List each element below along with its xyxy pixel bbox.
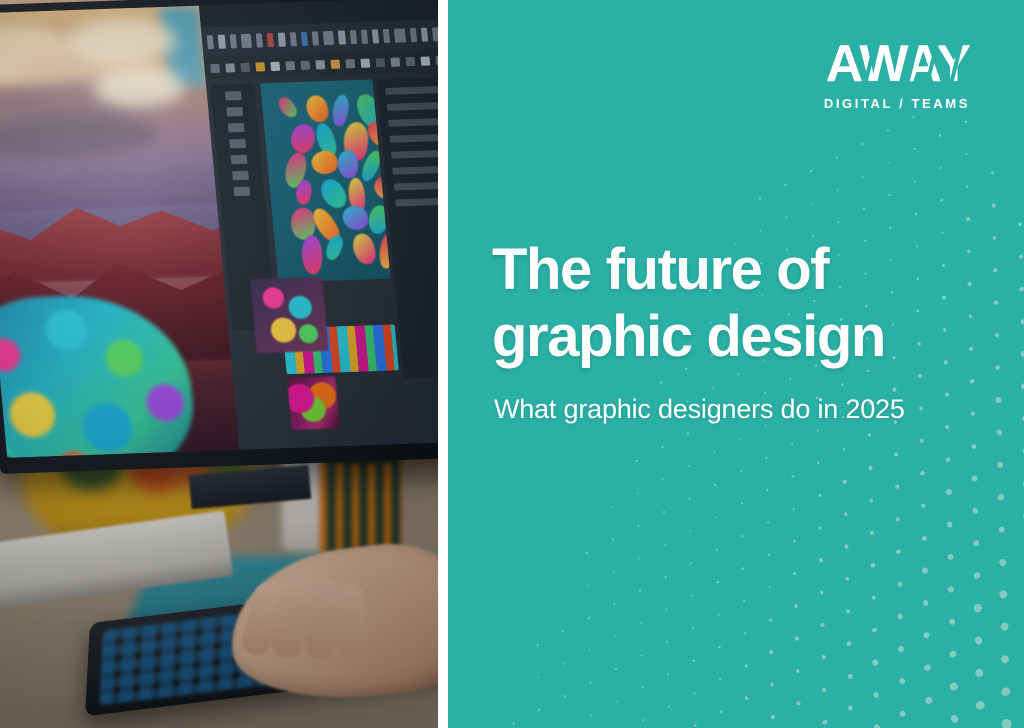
halftone-dot: [662, 479, 664, 481]
halftone-dot: [693, 691, 697, 695]
halftone-dot: [862, 175, 864, 177]
halftone-dot: [894, 484, 899, 489]
color-swatch: [361, 58, 371, 67]
halftone-dot: [766, 521, 769, 524]
halftone-dot: [766, 489, 769, 492]
halftone-dot: [614, 636, 616, 638]
halftone-dot: [688, 465, 690, 467]
halftone-dot: [871, 627, 877, 633]
artwork-preview-strip: [287, 376, 339, 429]
color-swatch: [271, 61, 281, 70]
property-row: [392, 165, 438, 174]
halftone-dot: [638, 557, 640, 559]
halftone-dot: [873, 723, 881, 728]
halftone-dot: [793, 572, 797, 576]
halftone-dot: [810, 170, 812, 172]
artwork-shape: [276, 94, 300, 120]
halftone-dot: [948, 649, 957, 658]
halftone-dot: [636, 460, 638, 462]
halftone-dot: [867, 434, 871, 438]
halftone-dot: [714, 484, 717, 487]
halftone-dot: [1020, 350, 1024, 357]
halftone-dot: [919, 438, 925, 444]
halftone-dot: [587, 584, 589, 586]
halftone-dot: [717, 613, 720, 616]
halftone-dot: [870, 562, 876, 568]
halftone-dot: [818, 526, 822, 530]
halftone-dot: [690, 562, 693, 565]
tool-icon: [227, 107, 244, 117]
halftone-dot: [893, 452, 898, 457]
halftone-dot: [921, 567, 928, 574]
halftone-dot: [861, 143, 863, 145]
monitor: [0, 0, 438, 474]
halftone-dot: [820, 622, 825, 627]
halftone-dot: [744, 696, 748, 700]
halftone-dot: [971, 507, 979, 515]
halftone-dot: [843, 512, 847, 516]
halftone-dot: [564, 695, 566, 697]
halftone-dot: [843, 480, 847, 484]
halftone-dot: [563, 663, 565, 665]
halftone-dot: [912, 115, 915, 118]
halftone-dot: [760, 230, 762, 232]
halftone-dot: [719, 710, 723, 714]
halftone-dot: [742, 599, 746, 603]
halftone-dot: [589, 682, 591, 684]
halftone-dot: [970, 443, 977, 450]
halftone-dot: [821, 687, 827, 693]
page-title: The future of graphic design: [492, 236, 992, 370]
halftone-dot: [914, 212, 917, 215]
halftone-dot: [784, 184, 786, 186]
halftone-dot: [969, 378, 975, 384]
halftone-dot: [945, 456, 951, 462]
toolbar-tool-icon: [349, 30, 356, 44]
halftone-dot: [847, 705, 854, 712]
halftone-dot: [965, 185, 969, 189]
halftone-dot: [991, 203, 996, 208]
halftone-dot: [994, 332, 1000, 338]
halftone-dot: [946, 553, 954, 561]
halftone-dot: [789, 378, 792, 381]
finger: [303, 577, 340, 659]
halftone-dot: [562, 630, 564, 632]
toolbar-tool-icon: [421, 28, 428, 42]
halftone-dot: [994, 364, 1000, 370]
halftone-dot: [846, 673, 853, 680]
toolbar-tool-icon: [361, 30, 368, 44]
halftone-dot: [974, 700, 985, 711]
halftone-dot: [922, 599, 930, 607]
artwork-shape: [302, 235, 322, 275]
halftone-dot: [889, 226, 892, 229]
halftone-dot: [1000, 718, 1013, 728]
halftone-dot: [845, 576, 850, 581]
halftone-dot: [939, 166, 942, 169]
halftone-dot: [991, 171, 995, 175]
artwork-shape: [287, 121, 319, 157]
tool-icon: [228, 123, 245, 133]
halftone-dot: [769, 650, 773, 654]
halftone-dot: [888, 194, 891, 197]
halftone-dot: [971, 475, 979, 483]
toolbar-tool-icon: [256, 33, 263, 47]
halftone-dot: [918, 374, 923, 379]
mountain-sunset-artwork: [0, 6, 240, 458]
halftone-dot: [947, 585, 955, 593]
toolbar-tool-icon: [323, 31, 335, 45]
halftone-dot: [997, 493, 1006, 502]
halftone-dot: [742, 567, 745, 570]
color-swatch: [406, 56, 416, 65]
app-canvas: [261, 79, 391, 282]
halftone-dot: [896, 581, 903, 588]
halftone-dot: [869, 498, 874, 503]
halftone-dot: [715, 516, 718, 519]
halftone-dot: [513, 722, 515, 724]
halftone-dot: [636, 492, 638, 494]
halftone-dot: [999, 621, 1010, 632]
artwork-shape: [341, 205, 370, 231]
halftone-dot: [768, 585, 772, 589]
halftone-dot: [740, 502, 743, 505]
design-app-interface: [199, 0, 438, 450]
page-title-line-1: The future of: [492, 237, 828, 302]
halftone-dot: [836, 189, 838, 191]
halftone-dot: [921, 535, 928, 542]
halftone-dot: [863, 207, 866, 210]
halftone-dot: [966, 217, 970, 221]
toolbar-tool-icon: [432, 27, 438, 41]
halftone-dot: [974, 667, 985, 678]
page-title-line-2: graphic design: [492, 303, 992, 370]
toolbar-tool-icon: [409, 28, 416, 42]
halftone-dot: [637, 525, 639, 527]
property-row: [385, 86, 438, 95]
halftone-dot: [712, 387, 714, 389]
halftone-dot: [998, 589, 1009, 600]
toolbar-tool-icon: [394, 28, 406, 42]
halftone-dot: [615, 668, 617, 670]
halftone-dot: [816, 429, 820, 433]
halftone-dot: [897, 613, 904, 620]
color-swatch: [436, 55, 438, 64]
halftone-dot: [872, 691, 879, 698]
halftone-dot: [817, 461, 821, 465]
halftone-dot: [1018, 254, 1024, 260]
color-swatch: [391, 57, 401, 66]
color-swatch: [301, 60, 311, 69]
halftone-dot: [837, 221, 839, 223]
halftone-dot: [718, 678, 722, 682]
halftone-dot: [660, 381, 662, 383]
halftone-dot: [663, 511, 665, 513]
halftone-dot: [919, 470, 925, 476]
halftone-dot: [999, 653, 1011, 665]
halftone-dot: [819, 558, 824, 563]
halftone-dot: [715, 548, 718, 551]
halftone-dot: [842, 447, 846, 451]
finger: [335, 584, 366, 657]
tool-icon: [232, 171, 249, 181]
color-swatch: [376, 58, 386, 67]
halftone-dot: [792, 507, 796, 511]
toolbar-tool-icon: [240, 34, 252, 48]
halftone-dot: [739, 470, 742, 473]
halftone-dot: [667, 705, 670, 708]
halftone-dot: [841, 383, 844, 386]
halftone-dot: [949, 714, 960, 725]
tool-icon: [225, 91, 242, 101]
halftone-dot: [817, 493, 821, 497]
halftone-dot: [1020, 382, 1024, 390]
halftone-dot: [640, 654, 643, 657]
halftone-dot: [743, 632, 747, 636]
color-swatch: [421, 56, 431, 65]
halftone-dot: [664, 576, 666, 578]
logo-wordmark: AWAY: [826, 38, 970, 90]
halftone-dot: [770, 682, 775, 687]
halftone-dot: [796, 701, 802, 707]
halftone-dot: [765, 456, 768, 459]
property-row: [388, 118, 438, 127]
halftone-dot: [998, 557, 1008, 567]
halftone-dot: [920, 502, 926, 508]
halftone-dot: [869, 530, 875, 536]
halftone-dot: [974, 635, 984, 645]
halftone-dot: [898, 677, 906, 685]
monitor-screen: [0, 0, 438, 458]
toolbar-tool-icon: [207, 35, 214, 49]
halftone-dot: [716, 581, 719, 584]
halftone-dot: [794, 636, 799, 641]
halftone-dot: [586, 552, 588, 554]
halftone-dot: [693, 724, 697, 728]
halftone-dot: [948, 617, 957, 626]
halftone-dot: [819, 590, 824, 595]
halftone-dot: [691, 627, 694, 630]
title-panel: AWAY DIGITAL / TEAMS The future of graph…: [448, 0, 1024, 728]
page-subtitle: What graphic designers do in 2025: [494, 392, 1014, 426]
property-row: [390, 134, 438, 143]
halftone-dot: [949, 681, 959, 691]
halftone-dot: [759, 197, 761, 199]
halftone-dot: [589, 649, 591, 651]
halftone-dot: [964, 120, 967, 123]
halftone-dot: [992, 235, 997, 240]
halftone-dot: [898, 709, 907, 718]
halftone-dot: [972, 571, 981, 580]
halftone-dot: [588, 617, 590, 619]
color-swatch: [211, 63, 221, 72]
halftone-dot: [887, 129, 890, 132]
halftone-dot: [613, 603, 615, 605]
halftone-dot: [895, 516, 901, 522]
halftone-dot: [972, 539, 981, 548]
tool-icon: [230, 139, 247, 149]
halftone-dot: [785, 216, 787, 218]
halftone-dot: [1019, 286, 1024, 292]
halftone-dot: [661, 446, 663, 448]
tool-icon: [231, 155, 248, 165]
halftone-dot: [871, 595, 877, 601]
halftone-dot: [996, 429, 1003, 436]
halftone-dot: [692, 659, 695, 662]
halftone-dot: [923, 663, 932, 672]
halftone-dot: [642, 719, 645, 722]
halftone-dot: [897, 645, 905, 653]
slide-canvas: AWAY DIGITAL / TEAMS The future of graph…: [0, 0, 1024, 728]
halftone-dot: [612, 571, 614, 573]
halftone-dot: [845, 608, 851, 614]
halftone-dot: [836, 156, 838, 158]
hero-photo: [0, 0, 438, 728]
halftone-dot: [790, 443, 793, 446]
color-swatch: [256, 62, 266, 71]
halftone-dot: [973, 603, 983, 613]
property-row: [394, 181, 438, 190]
halftone-dot: [665, 608, 668, 611]
artwork-shape: [304, 94, 330, 124]
halftone-dot: [612, 538, 614, 540]
halftone-dot: [687, 433, 689, 435]
halftone-dot: [664, 543, 666, 545]
halftone-dot: [846, 641, 852, 647]
toolbar-tool-icon: [338, 30, 345, 44]
halftone-dot: [737, 373, 739, 375]
halftone-dot: [922, 631, 931, 640]
halftone-dot: [1000, 686, 1012, 698]
property-row: [395, 197, 438, 206]
color-swatch: [241, 62, 251, 71]
halftone-dot: [913, 148, 916, 151]
toolbar-tool-icon: [300, 32, 307, 46]
halftone-dot: [821, 655, 827, 661]
halftone-dot: [713, 451, 715, 453]
brand-logo: AWAY DIGITAL / TEAMS: [824, 38, 970, 111]
color-swatch: [286, 61, 296, 70]
halftone-dot: [822, 719, 828, 725]
artwork-shape: [378, 232, 391, 270]
halftone-dot: [691, 594, 694, 597]
tool-icon: [234, 187, 251, 197]
artwork-shape: [366, 203, 390, 236]
halftone-dot: [793, 539, 797, 543]
halftone-dot: [993, 268, 999, 274]
artwork-shape: [317, 176, 350, 212]
halftone-dot: [666, 640, 669, 643]
artwork-shape: [309, 147, 342, 177]
halftone-dot: [1019, 318, 1024, 325]
cloud: [0, 113, 160, 162]
halftone-dot: [997, 525, 1006, 534]
halftone-dot: [895, 549, 901, 555]
halftone-dot: [996, 461, 1004, 469]
artwork-shape: [350, 232, 378, 266]
artwork-thumbnail: [250, 277, 329, 353]
halftone-dot: [537, 676, 539, 678]
halftone-dot: [993, 300, 999, 306]
halftone-dot: [868, 466, 873, 471]
halftone-dot: [770, 714, 775, 719]
halftone-dot: [689, 530, 691, 532]
halftone-dot: [795, 668, 800, 673]
halftone-dot: [739, 438, 741, 440]
halftone-dot: [640, 622, 642, 624]
halftone-dot: [768, 618, 772, 622]
halftone-dot: [945, 489, 952, 496]
toolbar-tool-icon: [372, 29, 379, 43]
halftone-dot: [688, 497, 690, 499]
artwork-shape: [330, 93, 351, 128]
toolbar-tool-icon: [278, 33, 285, 47]
halftone-dot: [940, 199, 944, 203]
toolbar-tool-icon: [267, 33, 274, 47]
halftone-dot: [538, 709, 540, 711]
halftone-dot: [946, 521, 953, 528]
halftone-dot: [616, 700, 618, 702]
property-row: [387, 102, 438, 111]
halftone-dot: [872, 659, 879, 666]
halftone-dot: [794, 604, 798, 608]
halftone-dot: [887, 161, 890, 164]
halftone-dot: [964, 152, 968, 156]
halftone-dot: [590, 714, 592, 716]
artwork-shape: [338, 150, 359, 179]
halftone-dot: [938, 134, 941, 137]
halftone-dot: [940, 231, 944, 235]
halftone-dot: [1017, 222, 1022, 227]
toolbar-tool-icon: [218, 35, 225, 49]
halftone-dot: [641, 686, 644, 689]
toolbar-tool-icon: [289, 32, 296, 46]
halftone-dot: [811, 202, 813, 204]
toolbar-tool-icon: [229, 34, 236, 48]
color-swatch: [226, 63, 236, 72]
halftone-dot: [741, 535, 744, 538]
halftone-dot: [536, 644, 538, 646]
halftone-dot: [791, 475, 794, 478]
halftone-dot: [744, 664, 748, 668]
toolbar-tool-icon: [383, 29, 390, 43]
logo-tagline: DIGITAL / TEAMS: [824, 96, 970, 111]
color-swatch: [316, 60, 326, 69]
halftone-dot: [844, 544, 849, 549]
halftone-dot: [923, 695, 933, 705]
halftone-dot: [718, 645, 721, 648]
halftone-dot: [914, 180, 917, 183]
color-swatch: [346, 59, 356, 68]
toolbar-tool-icon: [312, 31, 319, 45]
halftone-dot: [611, 506, 613, 508]
property-row: [391, 150, 438, 159]
halftone-dot: [639, 589, 641, 591]
color-swatch: [331, 59, 341, 68]
halftone-dot: [667, 673, 670, 676]
halftone-dot: [767, 553, 771, 557]
